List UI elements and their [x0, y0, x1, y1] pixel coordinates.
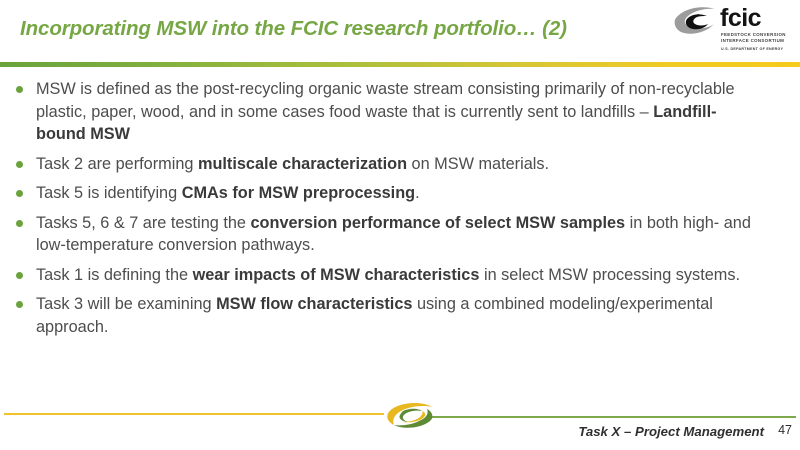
emphasis-text: multiscale characterization [198, 155, 407, 173]
list-item-text: Tasks 5, 6 & 7 are testing the conversio… [36, 214, 751, 255]
page-number: 47 [778, 423, 792, 437]
body-text: in select MSW processing systems. [479, 266, 740, 284]
body-text: Task 5 is identifying [36, 184, 182, 202]
list-item: MSW is defined as the post-recycling org… [0, 78, 800, 146]
emphasis-text: CMAs for MSW preprocessing [182, 184, 415, 202]
emphasis-text: wear impacts of MSW characteristics [193, 266, 480, 284]
bullet-dot-icon [16, 161, 23, 168]
body-text: Tasks 5, 6 & 7 are testing the [36, 214, 251, 232]
slide: Incorporating MSW into the FCIC research… [0, 0, 800, 450]
body-text: on MSW materials. [407, 155, 549, 173]
fcic-subtitle-line1: FEEDSTOCK CONVERSION [721, 32, 786, 38]
header-divider [0, 62, 800, 67]
bullet-dot-icon [16, 220, 23, 227]
fcic-subtitle-line2: INTERFACE CONSORTIUM [721, 38, 786, 44]
fcic-eye-mark-icon [674, 6, 716, 36]
body-text: Task 3 will be examining [36, 295, 216, 313]
list-item: Task 2 are performing multiscale charact… [0, 153, 800, 176]
list-item: Task 5 is identifying CMAs for MSW prepr… [0, 182, 800, 205]
body-text: Task 2 are performing [36, 155, 198, 173]
body-text: . [415, 184, 420, 202]
list-item-text: Task 5 is identifying CMAs for MSW prepr… [36, 184, 420, 202]
page-title: Incorporating MSW into the FCIC research… [20, 17, 660, 41]
list-item-text: Task 2 are performing multiscale charact… [36, 155, 549, 173]
fcic-subtitle: FEEDSTOCK CONVERSION INTERFACE CONSORTIU… [721, 32, 786, 43]
list-item-text: Task 3 will be examining MSW flow charac… [36, 295, 713, 336]
bullet-dot-icon [16, 272, 23, 279]
body-text: Task 1 is defining the [36, 266, 193, 284]
list-item: Task 1 is defining the wear impacts of M… [0, 264, 800, 287]
emphasis-text: MSW flow characteristics [216, 295, 412, 313]
body-text: MSW is defined as the post-recycling org… [36, 80, 735, 121]
footer-label: Task X – Project Management [578, 424, 764, 439]
list-item-text: MSW is defined as the post-recycling org… [36, 80, 735, 143]
bullet-list: MSW is defined as the post-recycling org… [0, 78, 800, 338]
bullet-dot-icon [16, 301, 23, 308]
slide-header: Incorporating MSW into the FCIC research… [0, 0, 800, 72]
list-item: Tasks 5, 6 & 7 are testing the conversio… [0, 212, 800, 257]
footer-divider-right [430, 416, 796, 418]
slide-footer: Task X – Project Management 47 [0, 398, 800, 450]
fcic-agency-line: U.S. DEPARTMENT OF ENERGY [721, 47, 783, 51]
bullet-dot-icon [16, 190, 23, 197]
fcic-logo: fcic FEEDSTOCK CONVERSION INTERFACE CONS… [674, 4, 792, 58]
slide-body: MSW is defined as the post-recycling org… [0, 78, 800, 398]
footer-divider-left [4, 413, 384, 415]
bullet-dot-icon [16, 86, 23, 93]
list-item: Task 3 will be examining MSW flow charac… [0, 293, 800, 338]
fcic-leaf-eye-logo-icon [382, 400, 434, 430]
emphasis-text: conversion performance of select MSW sam… [251, 214, 626, 232]
fcic-wordmark: fcic [720, 5, 761, 31]
list-item-text: Task 1 is defining the wear impacts of M… [36, 266, 740, 284]
